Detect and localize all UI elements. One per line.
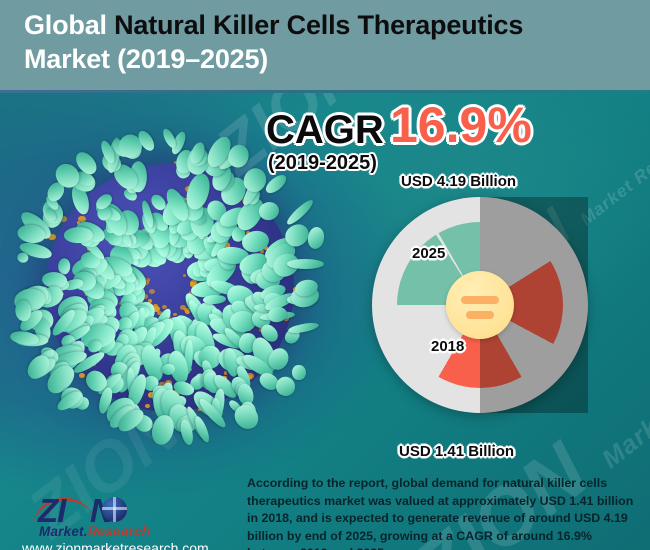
cagr-value: 16.9%: [390, 96, 532, 154]
pie-chart[interactable]: 2025 2018: [372, 197, 588, 413]
callout-2018-value: USD 1.41 Billion: [399, 443, 514, 460]
infographic-canvas: ZION Market Research ZION Market Researc…: [0, 0, 650, 550]
title-segment-subject: Natural Killer Cells Therapeutics: [114, 10, 523, 40]
cagr-period: (2019-2025): [268, 152, 377, 175]
header-divider: [0, 90, 650, 93]
title-segment-global: Global: [24, 10, 114, 40]
page-title: Global Natural Killer Cells Therapeutics…: [24, 8, 624, 76]
document-line-icon: [466, 311, 494, 319]
globe-icon: [102, 497, 127, 522]
pie-center-hub: [446, 271, 514, 339]
cagr-label: CAGR: [266, 108, 384, 153]
watermark-sub: Market Research: [597, 317, 650, 474]
cagr-block: CAGR 16.9% (2019-2025): [266, 100, 546, 172]
title-segment-market: Market (2019–2025): [24, 44, 268, 74]
logo-tagline: Market.Research: [39, 524, 150, 539]
header-banner: Global Natural Killer Cells Therapeutics…: [0, 0, 650, 92]
callout-2025-value: USD 4.19 Billion: [401, 173, 516, 190]
summary-paragraph: According to the report, global demand f…: [247, 475, 643, 550]
logo-url[interactable]: www.zionmarketresearch.com: [22, 540, 209, 550]
document-line-icon: [461, 296, 499, 304]
slice-label-2025: 2025: [412, 245, 445, 262]
slice-label-2018: 2018: [431, 338, 464, 355]
zion-logo[interactable]: ZION Market.Research www.zionmarketresea…: [14, 494, 236, 546]
